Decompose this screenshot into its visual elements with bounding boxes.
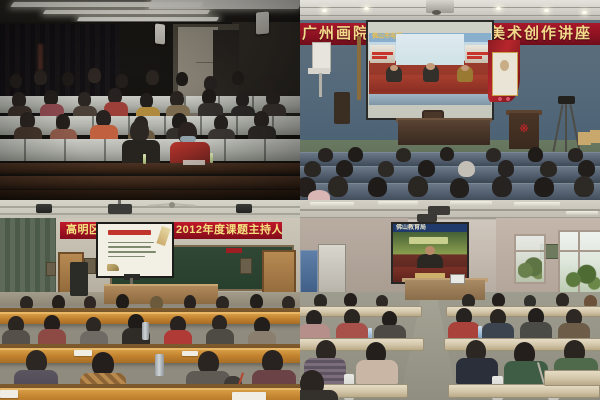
projection-screen: 佛山市电视	[368, 22, 492, 118]
ceiling-projector	[108, 204, 132, 214]
wall-speaker	[256, 11, 269, 34]
banner-pole	[357, 36, 361, 100]
side-chair	[334, 92, 350, 124]
video-speaker-body	[417, 254, 442, 268]
flower-decoration	[494, 96, 514, 102]
desk-row	[0, 163, 300, 174]
presentation-slide	[98, 224, 172, 276]
window	[558, 230, 600, 298]
video-side-panel	[370, 45, 394, 64]
wall-poster	[300, 250, 318, 296]
video-bottom-bar	[369, 94, 491, 105]
wall-panel	[240, 258, 252, 274]
wall-speaker	[155, 23, 165, 44]
seating-block-right	[452, 292, 600, 400]
presentation-table	[398, 120, 490, 145]
photo-bottom-left: 高明区教育局 2012年度课题主持人研修班	[0, 200, 300, 400]
video-conference-feed: 佛山市电视	[369, 33, 491, 105]
slide-logo	[107, 264, 119, 271]
desk-row	[0, 190, 300, 200]
photo-collage: 广州画院 美术创作讲座 佛山市电视	[0, 0, 600, 400]
banner-text-right: 2012年度课题主持人研修班	[176, 222, 282, 239]
photo-top-right: 广州画院 美术创作讲座 佛山市电视	[300, 0, 600, 200]
framed-portrait	[492, 52, 518, 96]
wall-sign	[226, 248, 242, 253]
audience-seating	[300, 150, 600, 200]
ceiling-speaker	[236, 204, 252, 213]
camera-tripod	[553, 96, 581, 152]
water-bottle	[210, 153, 213, 163]
photo-top-left	[0, 0, 300, 200]
ceiling-light-strip	[149, 0, 300, 9]
notice-board-leg	[319, 73, 322, 97]
ceiling-light-strip	[43, 10, 210, 14]
laptop	[450, 274, 465, 284]
photo-bottom-right: 佛山教育局	[300, 200, 600, 400]
stool	[590, 130, 600, 143]
desk-row	[0, 176, 300, 189]
wall-panel	[46, 262, 56, 276]
wall-cabinet	[318, 244, 346, 296]
projector-lens	[432, 10, 441, 15]
video-camera	[558, 96, 575, 104]
seating-block-left	[300, 292, 416, 400]
ceiling-light-strip	[77, 17, 219, 21]
portrait-face	[500, 60, 509, 71]
ceiling-fan	[148, 202, 196, 207]
projection-screen-frame: 佛山市电视	[366, 20, 494, 120]
video-side-panel	[465, 45, 489, 64]
video-backdrop	[396, 34, 464, 64]
wall-camera	[417, 214, 437, 222]
video-overlay-title: 佛山教育局	[396, 224, 426, 232]
podium-emblem: ※	[518, 122, 530, 136]
front-row-attendees	[122, 120, 232, 166]
window	[514, 234, 546, 284]
video-caption-band	[409, 237, 447, 244]
slide-pencil-graphic	[156, 226, 170, 246]
floor-speaker	[70, 262, 88, 296]
slide-title-bar	[108, 230, 151, 236]
ceiling-speaker	[36, 204, 52, 213]
desk-rows	[0, 300, 300, 400]
water-bottle	[143, 154, 146, 164]
paper-sheet	[183, 160, 205, 165]
projection-screen-frame	[96, 222, 174, 278]
